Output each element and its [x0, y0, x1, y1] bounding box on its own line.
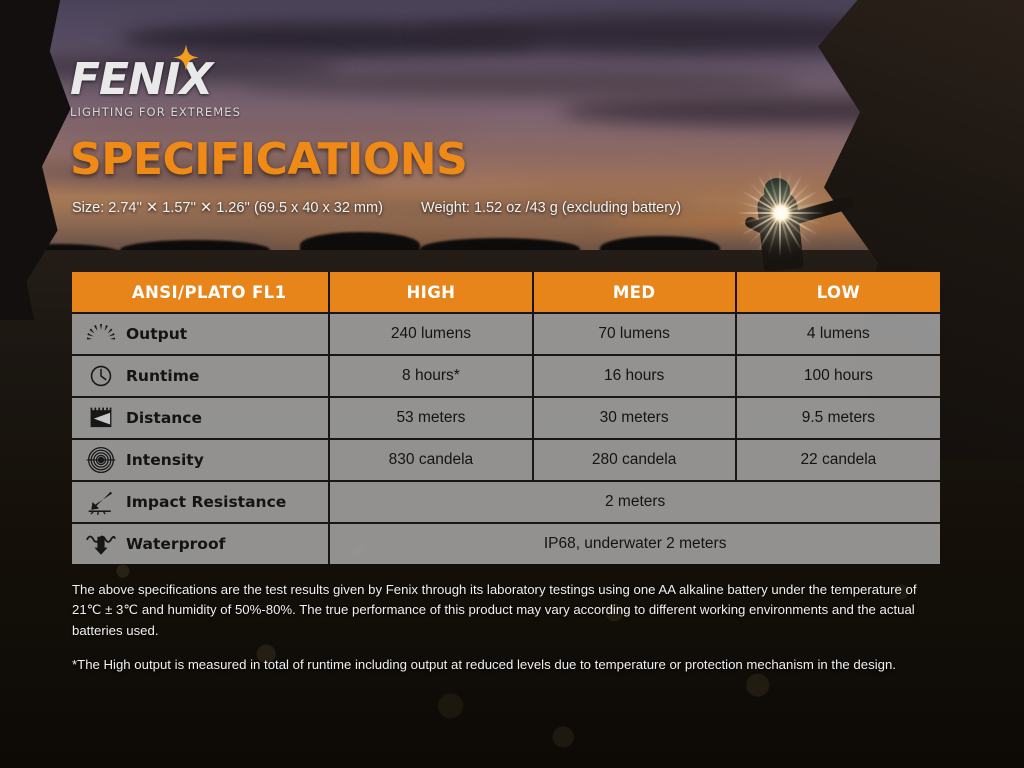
row-label-waterproof: Waterproof — [72, 522, 330, 564]
cell-intensity-high: 830 candela — [330, 438, 533, 480]
cell-intensity-med: 280 candela — [534, 438, 737, 480]
row-label-text: Waterproof — [126, 535, 225, 553]
clock-icon — [86, 363, 116, 389]
table-row: Runtime 8 hours* 16 hours 100 hours — [72, 354, 940, 396]
header-low: LOW — [737, 272, 940, 312]
waterproof-icon — [86, 531, 116, 557]
cell-distance-med: 30 meters — [534, 396, 737, 438]
row-label-text: Intensity — [126, 451, 204, 469]
cell-output-low: 4 lumens — [737, 312, 940, 354]
specifications-table: ANSI/PLATO FL1 HIGH MED LOW — [72, 272, 940, 564]
page-title: SPECIFICATIONS — [70, 138, 467, 182]
brand-logo: FENIX LIGHTING FOR EXTREMES — [70, 58, 241, 119]
row-label-output: Output — [72, 312, 330, 354]
table-row: Output 240 lumens 70 lumens 4 lumens — [72, 312, 940, 354]
row-label-text: Impact Resistance — [126, 493, 286, 511]
table-header-row: ANSI/PLATO FL1 HIGH MED LOW — [72, 272, 940, 312]
cell-runtime-high: 8 hours* — [330, 354, 533, 396]
cell-impact-resistance-value: 2 meters — [330, 480, 940, 522]
header-high: HIGH — [330, 272, 533, 312]
cell-output-med: 70 lumens — [534, 312, 737, 354]
table-row: Intensity 830 candela 280 candela 22 can… — [72, 438, 940, 480]
table-row: Impact Resistance 2 meters — [72, 480, 940, 522]
footnote-specifications: The above specifications are the test re… — [72, 580, 934, 641]
star-icon — [172, 44, 200, 72]
header-med: MED — [534, 272, 737, 312]
weight-text: Weight: 1.52 oz /43 g (excluding battery… — [421, 200, 681, 216]
brand-tagline: LIGHTING FOR EXTREMES — [70, 105, 241, 119]
intensity-icon — [86, 447, 116, 473]
row-label-intensity: Intensity — [72, 438, 330, 480]
dimensions-line: Size: 2.74'' ✕ 1.57'' ✕ 1.26'' (69.5 x 4… — [72, 200, 932, 216]
impact-icon — [86, 489, 116, 515]
sunburst-icon — [86, 321, 116, 347]
distance-icon — [86, 405, 116, 431]
cell-waterproof-value: IP68, underwater 2 meters — [330, 522, 940, 564]
cell-runtime-low: 100 hours — [737, 354, 940, 396]
header-ansi-plato: ANSI/PLATO FL1 — [72, 272, 330, 312]
footnote-high-output: *The High output is measured in total of… — [72, 655, 934, 675]
cell-runtime-med: 16 hours — [534, 354, 737, 396]
table-row: Waterproof IP68, underwater 2 meters — [72, 522, 940, 564]
row-label-text: Output — [126, 325, 187, 343]
table-row: Distance 53 meters 30 meters 9.5 meters — [72, 396, 940, 438]
row-label-text: Runtime — [126, 367, 199, 385]
cloud — [240, 70, 800, 96]
row-label-distance: Distance — [72, 396, 330, 438]
row-label-text: Distance — [126, 409, 202, 427]
cell-output-high: 240 lumens — [330, 312, 533, 354]
brand-name: FENIX — [70, 58, 241, 102]
size-text: Size: 2.74'' ✕ 1.57'' ✕ 1.26'' (69.5 x 4… — [72, 200, 417, 216]
row-label-impact-resistance: Impact Resistance — [72, 480, 330, 522]
cell-intensity-low: 22 candela — [737, 438, 940, 480]
cell-distance-high: 53 meters — [330, 396, 533, 438]
cell-distance-low: 9.5 meters — [737, 396, 940, 438]
row-label-runtime: Runtime — [72, 354, 330, 396]
